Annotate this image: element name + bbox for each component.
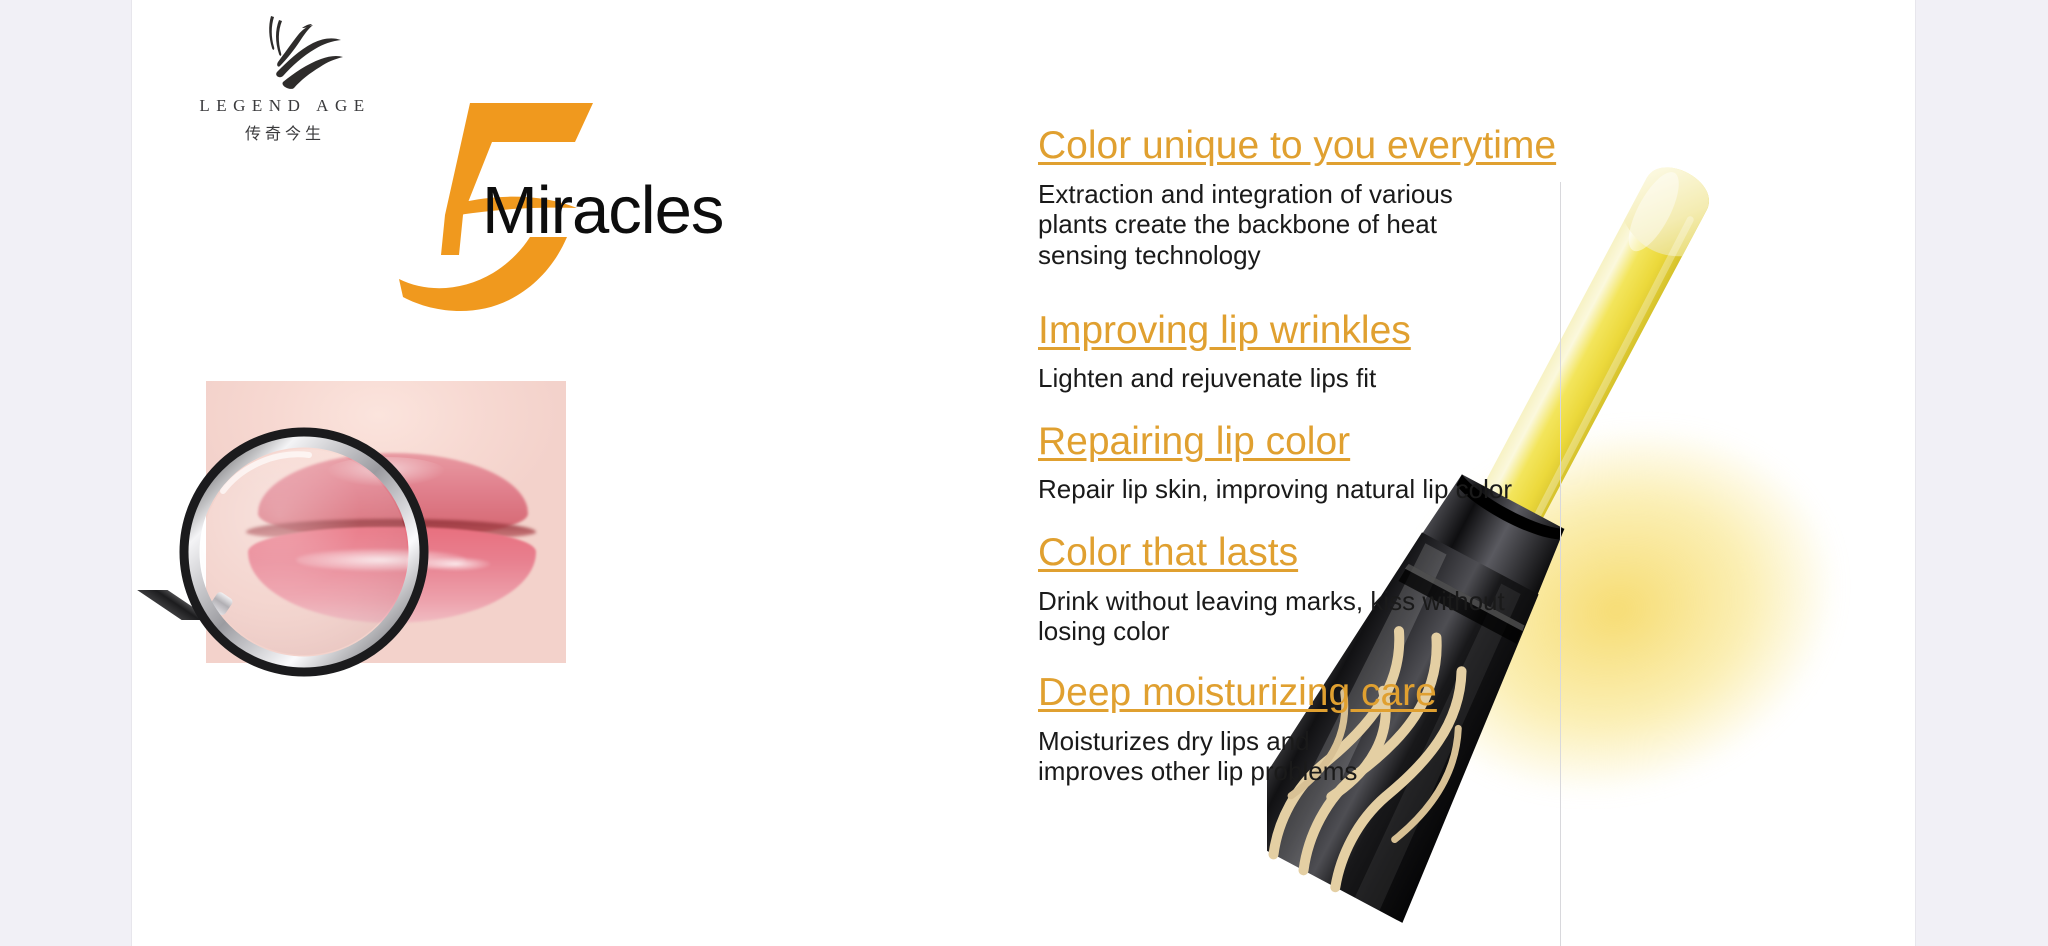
feature-item: Deep moisturizing care Moisturizes dry l…: [1038, 669, 1658, 787]
brand-logo: LEGEND AGE 传奇今生: [170, 10, 400, 144]
brand-sub-wordmark: 传奇今生: [170, 120, 400, 144]
legend-age-swirl-logo-icon: [225, 10, 345, 90]
feature-title[interactable]: Deep moisturizing care: [1038, 669, 1658, 717]
page-title-word: Miracles: [482, 177, 723, 244]
feature-item: Color that lasts Drink without leaving m…: [1038, 529, 1658, 647]
slide-canvas-area: LEGEND AGE 传奇今生 Miracles: [0, 0, 2048, 946]
feature-title[interactable]: Color unique to you everytime: [1038, 122, 1658, 170]
feature-title[interactable]: Repairing lip color: [1038, 418, 1658, 466]
feature-title[interactable]: Improving lip wrinkles: [1038, 307, 1658, 355]
lips-photo: [206, 381, 566, 663]
feature-item: Improving lip wrinkles Lighten and rejuv…: [1038, 307, 1658, 394]
brand-wordmark: LEGEND AGE: [170, 96, 400, 116]
feature-title[interactable]: Color that lasts: [1038, 529, 1658, 577]
feature-item: Color unique to you everytime Extraction…: [1038, 122, 1658, 271]
feature-description: Extraction and integration of various pl…: [1038, 179, 1658, 271]
feature-list: Color unique to you everytime Extraction…: [1038, 122, 1658, 793]
feature-description: Drink without leaving marks, kiss withou…: [1038, 586, 1658, 647]
feature-description: Lighten and rejuvenate lips fit: [1038, 363, 1658, 394]
lower-lip-gloss-highlight-secondary: [421, 557, 491, 571]
page-title: Miracles: [397, 95, 817, 325]
upper-lip-highlight: [326, 457, 446, 487]
feature-description: Moisturizes dry lips and improves other …: [1038, 726, 1658, 787]
presentation-slide: LEGEND AGE 传奇今生 Miracles: [132, 0, 1915, 946]
feature-item: Repairing lip color Repair lip skin, imp…: [1038, 418, 1658, 505]
feature-description: Repair lip skin, improving natural lip c…: [1038, 474, 1658, 505]
